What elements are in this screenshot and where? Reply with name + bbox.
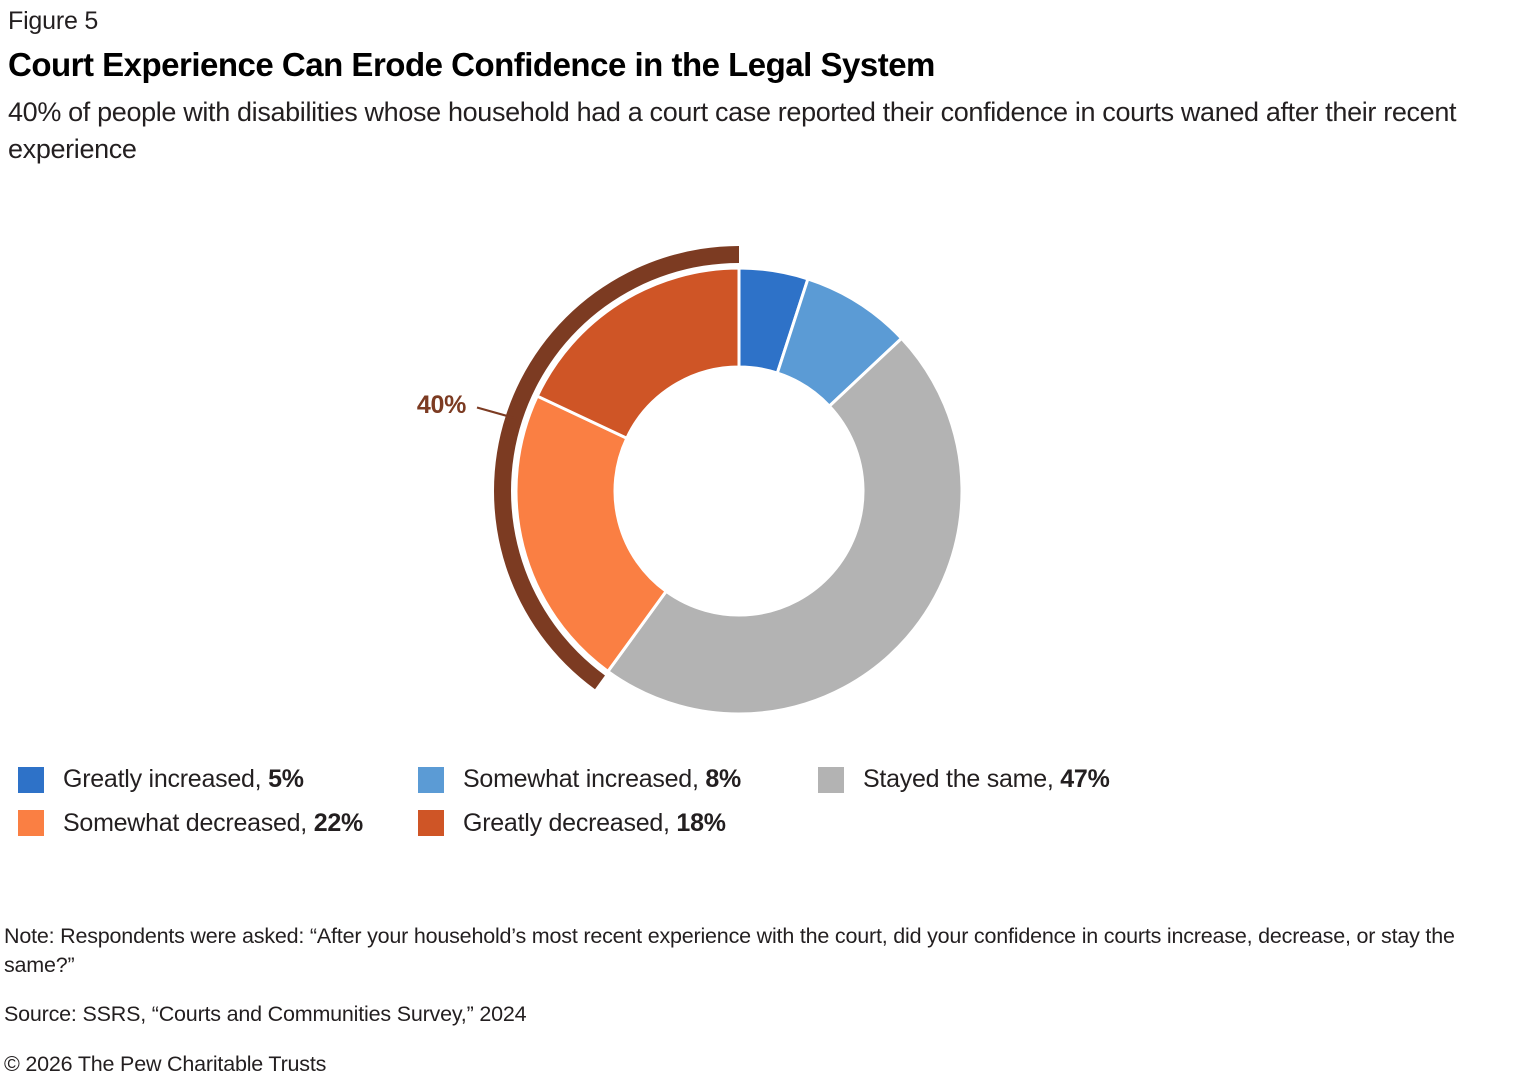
callout-percent-label: 40% <box>417 391 466 419</box>
legend-label-greatly-increased: Greatly increased, 5% <box>63 766 304 794</box>
chart-legend: Greatly increased, 5% Somewhat increased… <box>18 766 1218 853</box>
legend-row-2: Somewhat decreased, 22% Greatly decrease… <box>18 810 1218 838</box>
callout-group: 40% <box>417 391 516 419</box>
legend-item-greatly-decreased[interactable]: Greatly decreased, 18% <box>418 810 818 838</box>
legend-swatch-greatly-decreased <box>418 810 444 836</box>
copyright-text: © 2026 The Pew Charitable Trusts <box>4 1050 1509 1079</box>
legend-value-stayed-the-same: 47% <box>1060 765 1109 793</box>
legend-swatch-greatly-increased <box>18 767 44 793</box>
legend-item-greatly-increased[interactable]: Greatly increased, 5% <box>18 766 418 794</box>
legend-item-somewhat-increased[interactable]: Somewhat increased, 8% <box>418 766 818 794</box>
legend-row-1: Greatly increased, 5% Somewhat increased… <box>18 766 1218 794</box>
legend-item-stayed-the-same[interactable]: Stayed the same, 47% <box>818 766 1218 794</box>
legend-label-greatly-decreased: Greatly decreased, 18% <box>463 810 726 838</box>
page-title: Court Experience Can Erode Confidence in… <box>8 46 1512 85</box>
legend-text-stayed-the-same: Stayed the same, <box>863 765 1060 793</box>
source-text: Source: SSRS, “Courts and Communities Su… <box>4 1000 1509 1029</box>
figure-page: Figure 5 Court Experience Can Erode Conf… <box>0 0 1520 1092</box>
legend-swatch-somewhat-increased <box>418 767 444 793</box>
legend-item-somewhat-decreased[interactable]: Somewhat decreased, 22% <box>18 810 418 838</box>
legend-label-stayed-the-same: Stayed the same, 47% <box>863 766 1110 794</box>
legend-value-somewhat-increased: 8% <box>705 765 741 793</box>
legend-value-greatly-decreased: 18% <box>676 809 725 837</box>
legend-value-somewhat-decreased: 22% <box>314 809 363 837</box>
legend-text-greatly-decreased: Greatly decreased, <box>463 809 676 837</box>
pie-slices-group <box>516 268 962 714</box>
figure-number: Figure 5 <box>8 8 1512 36</box>
legend-label-somewhat-decreased: Somewhat decreased, 22% <box>63 810 363 838</box>
note-text: Note: Respondents were asked: “After you… <box>4 922 1509 980</box>
legend-swatch-somewhat-decreased <box>18 810 44 836</box>
donut-chart-svg: 40% <box>0 196 1520 748</box>
legend-text-somewhat-decreased: Somewhat decreased, <box>63 809 314 837</box>
figure-subtitle: 40% of people with disabilities whose ho… <box>8 94 1488 167</box>
legend-value-greatly-increased: 5% <box>268 765 304 793</box>
legend-text-greatly-increased: Greatly increased, <box>63 765 268 793</box>
legend-label-somewhat-increased: Somewhat increased, 8% <box>463 766 741 794</box>
legend-text-somewhat-increased: Somewhat increased, <box>463 765 705 793</box>
donut-chart: 40% <box>0 196 1520 748</box>
footnotes: Note: Respondents were asked: “After you… <box>4 922 1514 1079</box>
legend-swatch-stayed-the-same <box>818 767 844 793</box>
